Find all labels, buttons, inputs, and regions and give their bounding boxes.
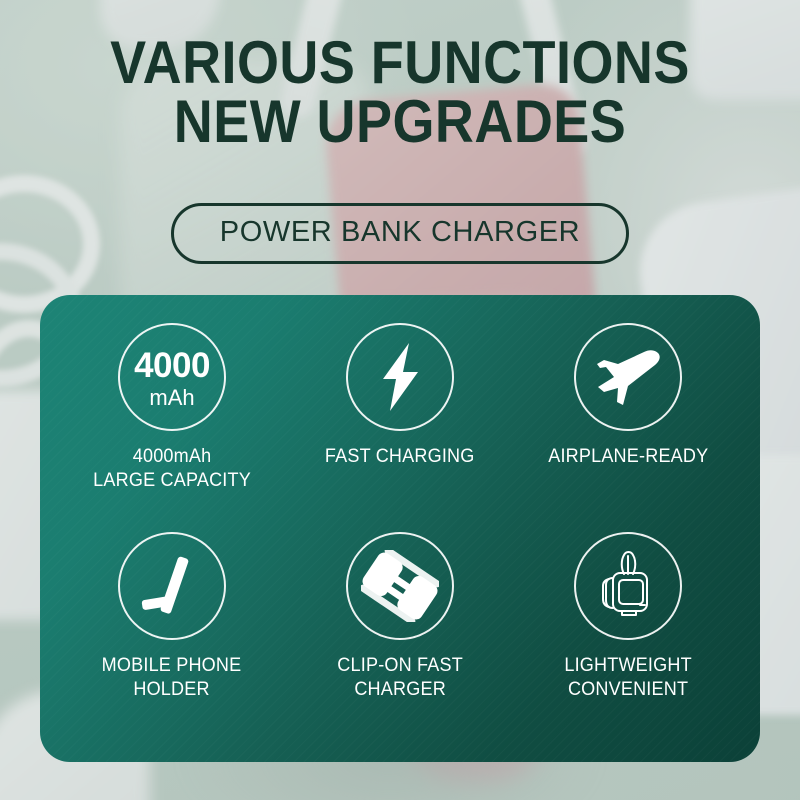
feature-large-capacity[interactable]: 4000 mAh 4000mAh LARGE CAPACITY [58,323,286,532]
caption-line-1: LIGHTWEIGHT [564,654,691,678]
lightning-bolt-icon [369,341,431,413]
feature-fast-charging[interactable]: FAST CHARGING [286,323,514,532]
lightning-bolt-icon-circle [346,323,454,431]
feature-card: 4000 mAh 4000mAh LARGE CAPACITY FAST [40,295,760,762]
caption-line-1: AIRPLANE-READY [548,445,708,469]
feature-phone-holder[interactable]: MOBILE PHONE HOLDER [58,532,286,741]
capacity-number: 4000 [134,348,210,383]
feature-caption: 4000mAh LARGE CAPACITY [93,445,251,494]
feature-caption: CLIP-ON FAST CHARGER [337,654,463,703]
phone-stand-icon-circle [118,532,226,640]
airplane-icon [592,345,664,409]
feature-lightweight[interactable]: LIGHTWEIGHT CONVENIENT [514,532,742,741]
caption-line-2: LARGE CAPACITY [93,469,251,493]
feature-caption: AIRPLANE-READY [548,445,708,469]
clip-charger-icon-circle [346,532,454,640]
capacity-unit: mAh [149,387,194,409]
clip-charger-icon [361,550,439,622]
feature-airplane-ready[interactable]: AIRPLANE-READY [514,323,742,532]
caption-line-2: HOLDER [102,678,242,702]
feature-grid: 4000 mAh 4000mAh LARGE CAPACITY FAST [40,295,760,762]
feature-caption: MOBILE PHONE HOLDER [102,654,242,703]
caption-line-1: FAST CHARGING [325,445,475,469]
feature-caption: FAST CHARGING [325,445,475,469]
capacity-text-icon: 4000 mAh [118,323,226,431]
feature-clip-on-charger[interactable]: CLIP-ON FAST CHARGER [286,532,514,741]
airplane-icon-circle [574,323,682,431]
capacity-text-stack: 4000 mAh [134,346,210,409]
phone-stand-icon [139,553,205,619]
headline-line-1: VARIOUS FUNCTIONS [40,34,760,93]
feature-caption: LIGHTWEIGHT CONVENIENT [564,654,691,703]
caption-line-2: CONVENIENT [564,678,691,702]
keychain-device-icon [591,548,665,624]
page-title: VARIOUS FUNCTIONS NEW UPGRADES [40,34,760,152]
product-feature-poster: VARIOUS FUNCTIONS NEW UPGRADES POWER BAN… [0,0,800,800]
subtitle-pill: POWER BANK CHARGER [171,203,629,264]
caption-line-1: CLIP-ON FAST [337,654,463,678]
caption-line-1: MOBILE PHONE [102,654,242,678]
keychain-device-icon-circle [574,532,682,640]
subtitle-container: POWER BANK CHARGER [0,203,800,264]
caption-line-1: 4000mAh [93,445,251,469]
headline-line-2: NEW UPGRADES [40,93,760,152]
caption-line-2: CHARGER [337,678,463,702]
